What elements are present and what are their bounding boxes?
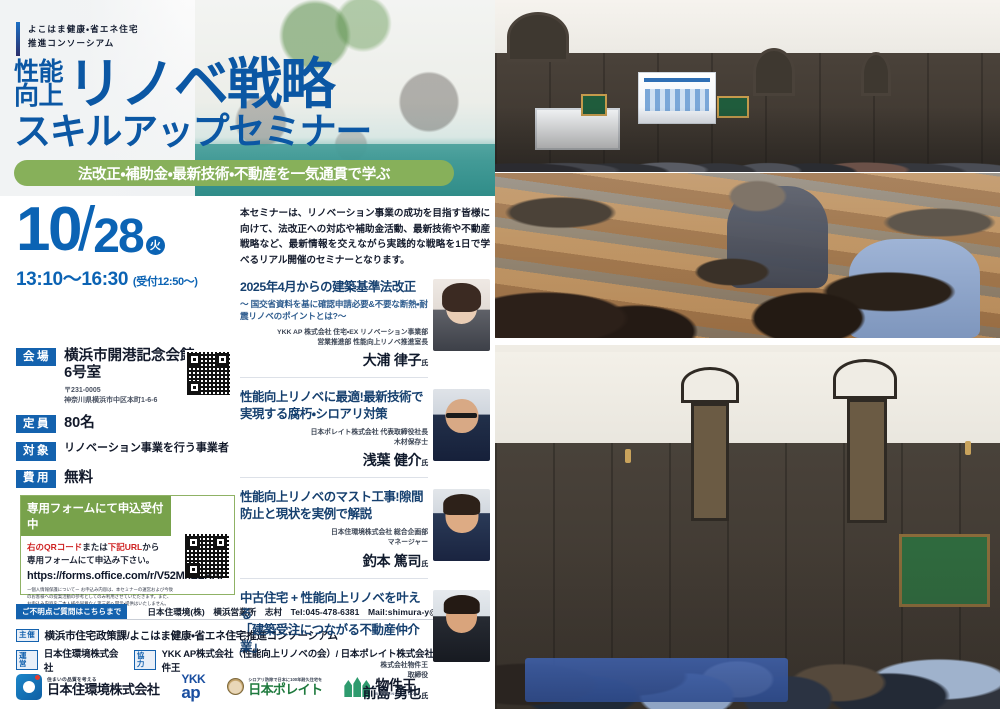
speaker-title-2: 性能向上リノベに最適!最新技術で (240, 389, 428, 405)
title-small-2: 向上 (14, 84, 63, 109)
date-month: 10 (16, 202, 80, 258)
title-main: リノベ戦略 (67, 58, 334, 110)
info-value-fee: 無料 (64, 470, 93, 487)
seating-scene (495, 173, 1000, 338)
title-small-stack: 性能 向上 (14, 60, 63, 109)
speaker-title-1: 2025年4月からの建築基準法改正 (240, 279, 428, 295)
speaker-name-4: 前島 勇也氏 (240, 683, 428, 703)
ykk-line-2: ap (181, 685, 205, 701)
speaker-name-3: 釣本 篤司氏 (240, 551, 428, 571)
speaker-divider-1 (240, 377, 428, 378)
qr-eye-bl-icon (187, 563, 200, 576)
reception-time: (受付12:50〜) (133, 276, 198, 288)
speaker-honorific-2: 氏 (421, 460, 428, 467)
flyer-column: よこはま健康・省エネ住宅 推進コンソーシアム 性能 向上 リノベ戦略 スキルアッ… (0, 0, 495, 709)
title-secondary: スキルアップセミナー (14, 113, 371, 150)
net-arch-1 (681, 367, 739, 403)
speaker-name-text-4: 前島 勇也 (363, 685, 422, 701)
speaker-name-text-1: 大浦 律子 (363, 352, 422, 368)
wall-sconce-2-icon (965, 441, 971, 455)
speaker-affiliation-4a: 株式会社物件王 (240, 661, 428, 671)
contact-tag: ご不明点ご質問はこちらまで (16, 604, 127, 619)
seminar-flyer: よこはま健康・省エネ住宅 推進コンソーシアム 性能 向上 リノベ戦略 スキルアッ… (0, 0, 1000, 709)
photo-networking (495, 345, 1000, 709)
info-row-fee: 費用 無料 (16, 470, 236, 488)
consortium-bar-icon (16, 22, 20, 56)
date-time: 13:10〜16:30 (受付12:50〜) (16, 264, 231, 291)
speaker-photo-3 (433, 489, 490, 561)
organizer-label-host: 主催 (16, 629, 39, 641)
reception-table (525, 658, 788, 702)
net-door-1 (691, 403, 729, 521)
date-dayofweek-badge: 火 (146, 236, 165, 255)
info-value-audience: リノベーション事業を行う事業者 (64, 442, 229, 455)
time-range: 13:10〜16:30 (16, 269, 128, 290)
logo-nihon-jukankyo: 住まいの品質を考える 日本住環境株式会社 (16, 674, 159, 700)
net-arch-2 (833, 359, 897, 399)
qr-eye-bl-icon (188, 381, 201, 394)
speaker-title-3: 性能向上リノベのマスト工事!隙間 (240, 489, 428, 505)
qr-eye-tl-icon (188, 353, 201, 366)
speaker-divider-2 (240, 477, 428, 478)
privacy-title: ー個人情報保護についてー (27, 587, 80, 592)
speaker-honorific-4: 氏 (421, 693, 428, 700)
speaker-affiliation-2a: 日本ポレイト株式会社 代表取締役社長 (240, 428, 428, 438)
url-emphasis: 下記URL (108, 542, 142, 552)
speaker-name-1: 大浦 律子氏 (240, 350, 428, 370)
speaker-title-4: 中古住宅 + 性能向上リノベを叶える (240, 590, 428, 623)
info-value-capacity: 80名 (64, 415, 95, 432)
speaker-block-2: 性能向上リノベに最適!最新技術で 実現する腐朽・シロアリ対策 日本ポレイト株式会… (240, 389, 490, 478)
arch-2 (753, 48, 795, 96)
speaker-title-3b: 防止と現状を実例で解説 (240, 506, 428, 522)
speaker-photo-2 (433, 389, 490, 461)
hero-section: よこはま健康・省エネ住宅 推進コンソーシアム 性能 向上 リノベ戦略 スキルアッ… (0, 0, 495, 196)
speaker-affiliation-2b: 木材保存士 (240, 438, 428, 448)
speaker-affiliation-1a: YKK AP 株式会社 住宅・EX リノベーション事業部 (240, 328, 428, 338)
speaker-affiliation-3a: 日本住環境株式会社 総合企画部 (240, 528, 428, 538)
page-title: 性能 向上 リノベ戦略 スキルアップセミナー (14, 58, 371, 150)
date-day: 28 (93, 215, 143, 258)
speaker-honorific-1: 氏 (421, 360, 428, 367)
speaker-block-1: 2025年4月からの建築基準法改正 〜 国交省資料を基に確認申請必要&不要な断熱… (240, 279, 490, 378)
apply-suffix: から (142, 542, 159, 552)
info-row-audience: 対象 リノベーション事業を行う事業者 (16, 442, 236, 460)
audience-silhouettes (495, 107, 1000, 172)
wall-sconce-1-icon (625, 449, 631, 463)
info-label-audience: 対象 (16, 442, 56, 460)
speaker-affiliation-3b: マネージャー (240, 538, 428, 548)
apply-mid: または (82, 542, 108, 552)
info-label-capacity: 定員 (16, 415, 56, 433)
speaker-title-2b: 実現する腐朽・シロアリ対策 (240, 406, 428, 422)
njkk-name: 日本住環境株式会社 (47, 683, 159, 697)
qr-eye-tl-icon (187, 536, 200, 549)
attendee-heads (495, 173, 1000, 338)
speaker-name-text-2: 浅葉 健介 (363, 452, 422, 468)
venue-postal: 〒231-0005 (64, 386, 195, 396)
title-small-1: 性能 (14, 60, 63, 85)
application-heading: 専用フォームにて申込受付中 (21, 496, 171, 536)
application-box: 専用フォームにて申込受付中 右のQRコードまたは下記URLから 専用フォームにて… (20, 495, 235, 595)
photo-seated-audience (495, 173, 1000, 338)
arch-1 (507, 12, 569, 62)
speaker-photo-1 (433, 279, 490, 351)
consortium-logo: よこはま健康・省エネ住宅 推進コンソーシアム (16, 22, 139, 56)
networking-scene (495, 345, 1000, 709)
speaker-divider-3 (240, 578, 428, 579)
logo-ykk-ap: YKK ap (181, 674, 205, 701)
date-block: 10 / 28 火 13:10〜16:30 (受付12:50〜) (16, 202, 231, 291)
qr-eye-tr-icon (214, 536, 227, 549)
hall-scene (495, 0, 1000, 172)
venue-map-qr-code[interactable] (185, 350, 232, 397)
program-column: 本セミナーは、リノベーション事業の成功を目指す皆様に向けて、法改正への対応や補助… (240, 206, 490, 703)
photo-column (495, 0, 1000, 709)
consortium-text: よこはま健康・省エネ住宅 推進コンソーシアム (28, 22, 139, 50)
net-upper-wall (495, 352, 1000, 447)
hall-upper-wall (495, 0, 1000, 53)
speaker-block-3: 性能向上リノベのマスト工事!隙間 防止と現状を実例で解説 日本住環境株式会社 総… (240, 489, 490, 578)
info-row-capacity: 定員 80名 (16, 415, 236, 433)
speaker-affiliation-4b: 取締役 (240, 671, 428, 681)
njkk-mark-icon (16, 674, 42, 700)
venue-address: 神奈川県横浜市中区本町1-6-6 (64, 396, 195, 406)
info-list: 会場 横浜市開港記念会館 6号室 〒231-0005 神奈川県横浜市中区本町1-… (16, 348, 236, 497)
subtitle-banner: 法改正・補助金・最新技術・不動産を一気通貫で学ぶ (14, 160, 454, 186)
speaker-subtitle-1: 〜 国交省資料を基に確認申請必要&不要な断熱・耐震リノベのポイントとは?〜 (240, 298, 428, 322)
speaker-honorific-3: 氏 (421, 561, 428, 568)
info-value-venue-room: 6号室 (64, 365, 195, 382)
date-line: 10 / 28 火 (16, 202, 231, 258)
speaker-affiliation-1b: 営業推進部 性能向上リノベ推進室長 (240, 338, 428, 348)
net-door-2 (847, 399, 887, 523)
info-value-venue: 横浜市開港記念会館 (64, 348, 195, 365)
photo-lecture-hall (495, 0, 1000, 172)
application-body: 右のQRコードまたは下記URLから 専用フォームにて申込み下さい。 https:… (21, 536, 234, 607)
lead-paragraph: 本セミナーは、リノベーション事業の成功を目指す皆様に向けて、法改正への対応や補助… (240, 206, 490, 268)
speaker-photo-4 (433, 590, 490, 662)
arch-3 (861, 52, 891, 96)
consortium-line-1: よこはま健康・省エネ住宅 (28, 22, 139, 36)
speaker-name-2: 浅葉 健介氏 (240, 450, 428, 470)
info-label-venue: 会場 (16, 348, 56, 366)
info-row-venue: 会場 横浜市開港記念会館 6号室 〒231-0005 神奈川県横浜市中区本町1-… (16, 348, 236, 406)
subtitle-text: 法改正・補助金・最新技術・不動産を一気通貫で学ぶ (78, 163, 390, 184)
speaker-name-text-3: 釣本 篤司 (363, 553, 422, 569)
application-form-qr-code[interactable] (185, 534, 229, 578)
speaker-title-4b: 「建築受注につながる不動産仲介業」 (240, 622, 428, 655)
qr-eye-tr-icon (216, 353, 229, 366)
consortium-line-2: 推進コンソーシアム (28, 36, 139, 50)
info-label-fee: 費用 (16, 470, 56, 488)
speaker-block-4: 中古住宅 + 性能向上リノベを叶える 「建築受注につながる不動産仲介業」 株式会… (240, 590, 490, 704)
qr-emphasis: 右のQRコード (27, 542, 82, 552)
